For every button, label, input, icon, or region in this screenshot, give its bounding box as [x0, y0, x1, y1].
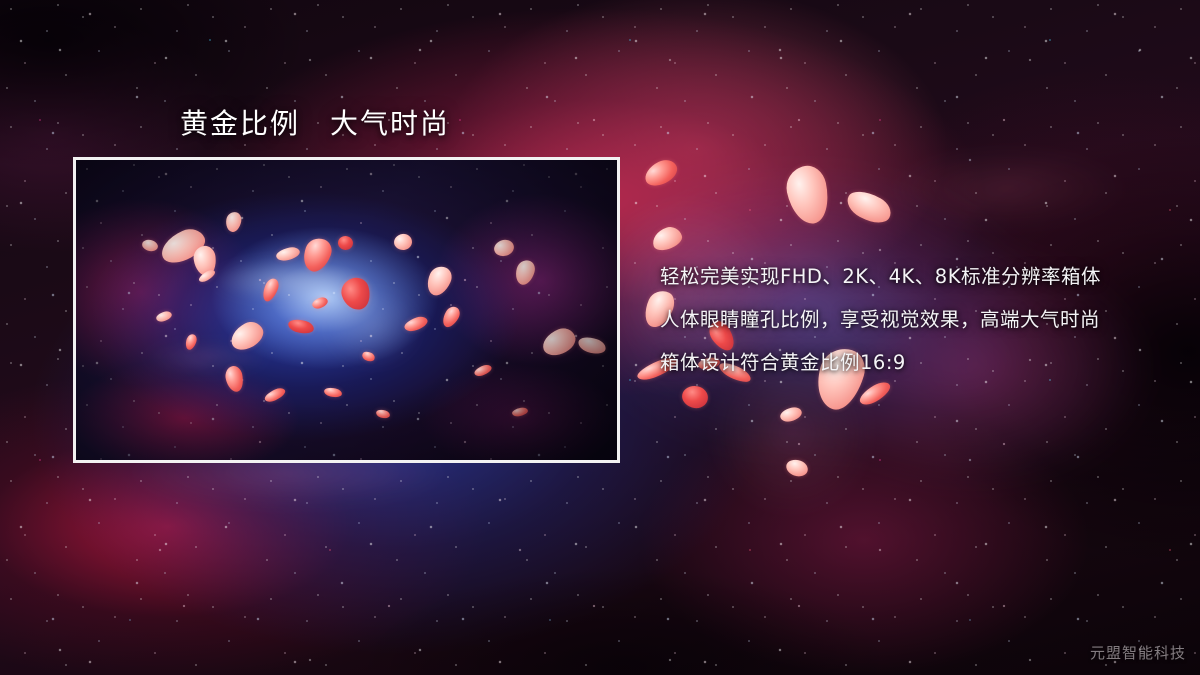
presentation-slide: 黄金比例 大气时尚 轻松完美实现FHD、2K、4K、8K标准分辨率箱体 人体眼睛…	[0, 0, 1200, 675]
framed-picture	[73, 157, 620, 463]
page-title: 黄金比例 大气时尚	[180, 102, 450, 142]
picture-vignette	[76, 160, 617, 460]
body-line: 轻松完美实现FHD、2K、4K、8K标准分辨率箱体	[660, 255, 1130, 298]
watermark: 元盟智能科技	[1090, 642, 1186, 663]
body-copy: 轻松完美实现FHD、2K、4K、8K标准分辨率箱体 人体眼睛瞳孔比例，享受视觉效…	[660, 255, 1130, 384]
body-line: 人体眼睛瞳孔比例，享受视觉效果，高端大气时尚	[660, 298, 1130, 341]
body-line: 箱体设计符合黄金比例16:9	[660, 341, 1130, 384]
